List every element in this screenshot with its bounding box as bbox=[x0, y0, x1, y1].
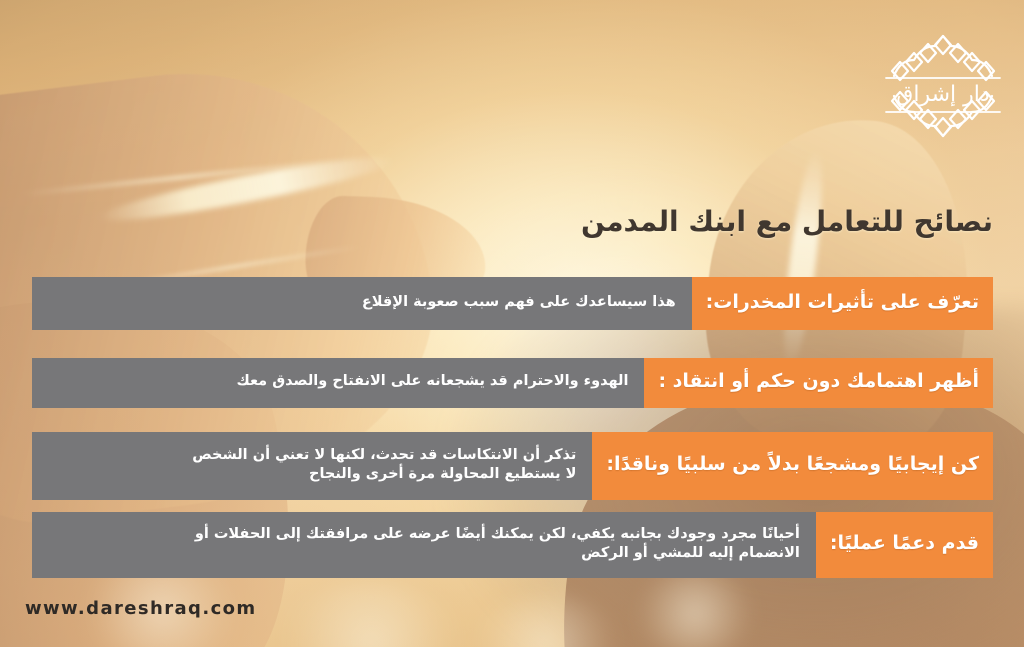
tip-row-3: كن إيجابيًا ومشجعًا بدلاً من سلبيًا وناق… bbox=[32, 432, 993, 500]
page-title: نصائح للتعامل مع ابنك المدمن bbox=[353, 205, 993, 239]
tip-description-line: أحيانًا مجرد وجودك بجانبه يكفي، لكن يمكن… bbox=[48, 525, 800, 544]
tip-description-4: أحيانًا مجرد وجودك بجانبه يكفي، لكن يمكن… bbox=[32, 512, 816, 578]
tip-label-4: قدم دعمًا عمليًا: bbox=[816, 512, 993, 578]
tip-description-line: هذا سيساعدك على فهم سبب صعوبة الإقلاع bbox=[48, 293, 676, 312]
tip-label-1: تعرّف على تأثيرات المخدرات: bbox=[692, 277, 993, 330]
tip-description-3: تذكر أن الانتكاسات قد تحدث، لكنها لا تعن… bbox=[32, 432, 592, 500]
tip-label-2: أظهر اهتمامك دون حكم أو انتقاد : bbox=[644, 358, 993, 408]
brand-logo: دار إشراق bbox=[876, 22, 1010, 150]
tip-description-line: تذكر أن الانتكاسات قد تحدث، لكنها لا تعن… bbox=[48, 446, 576, 465]
poster-content: دار إشراق نصائح للتعامل مع ابنك المدمن ت… bbox=[0, 0, 1024, 647]
tip-row-1: تعرّف على تأثيرات المخدرات: هذا سيساعدك … bbox=[32, 277, 993, 330]
tip-row-2: أظهر اهتمامك دون حكم أو انتقاد : الهدوء … bbox=[32, 358, 993, 408]
tip-description-line: الانضمام إليه للمشي أو الركض bbox=[48, 544, 800, 563]
website-url[interactable]: www.dareshraq.com bbox=[25, 598, 257, 619]
tip-description-line: لا يستطيع المحاولة مرة أخرى والنجاح bbox=[48, 465, 576, 484]
tip-description-line: الهدوء والاحترام قد يشجعانه على الانفتاح… bbox=[48, 372, 628, 391]
tip-description-2: الهدوء والاحترام قد يشجعانه على الانفتاح… bbox=[32, 358, 644, 408]
tip-label-3: كن إيجابيًا ومشجعًا بدلاً من سلبيًا وناق… bbox=[592, 432, 993, 500]
svg-text:دار إشراق: دار إشراق bbox=[896, 82, 989, 107]
tip-row-4: قدم دعمًا عمليًا: أحيانًا مجرد وجودك بجا… bbox=[32, 512, 993, 578]
infographic-poster: دار إشراق نصائح للتعامل مع ابنك المدمن ت… bbox=[0, 0, 1024, 647]
tip-description-1: هذا سيساعدك على فهم سبب صعوبة الإقلاع bbox=[32, 277, 692, 330]
